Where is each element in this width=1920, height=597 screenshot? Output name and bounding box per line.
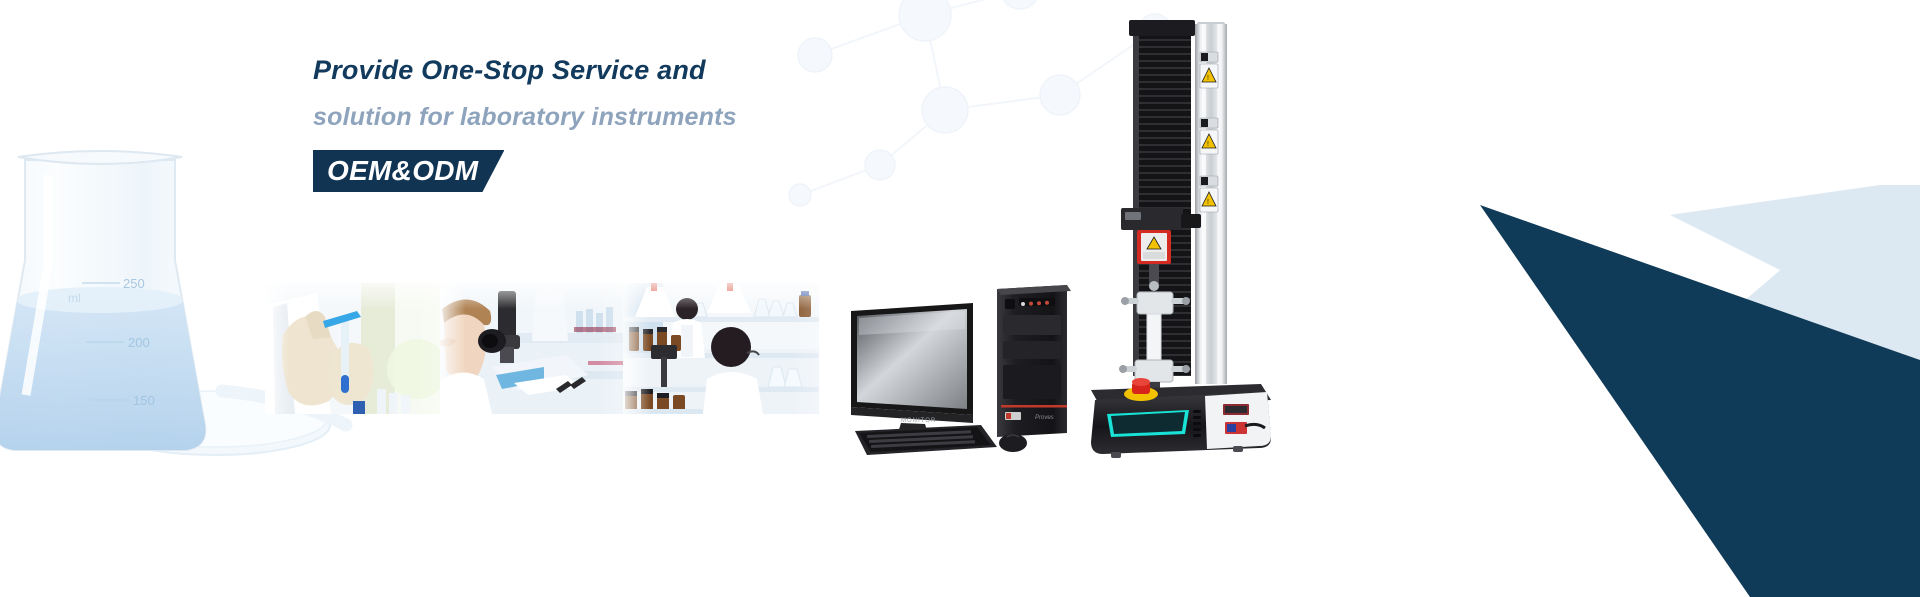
svg-text:!: ! (1207, 75, 1209, 82)
svg-text:150: 150 (133, 393, 155, 408)
svg-text:250: 250 (123, 276, 145, 291)
svg-text:ml: ml (68, 291, 81, 305)
svg-text:Proves: Proves (1035, 415, 1054, 421)
promo-banner: 250 200 150 ml Provide One-Stop Service … (0, 0, 1920, 597)
photo-pipetting (265, 283, 440, 414)
light-blue-wedge (1670, 185, 1920, 340)
dark-navy-triangle (1480, 205, 1920, 597)
photo-lab-researchers (623, 283, 819, 414)
oem-odm-badge-wrapper: OEM&ODM (313, 150, 504, 192)
headline-block: Provide One-Stop Service and solution fo… (313, 57, 1073, 130)
svg-text:MONITOR: MONITOR (901, 418, 936, 424)
headline-line-2: solution for laboratory instruments (313, 105, 1073, 130)
laboratory-photo-strip (265, 283, 825, 414)
svg-text:!: ! (1207, 141, 1209, 148)
oem-odm-badge: OEM&ODM (313, 150, 504, 192)
photo-microscope (440, 283, 623, 414)
universal-tensile-testing-machine: ! ! ! (1085, 18, 1305, 458)
svg-text:!: ! (1207, 199, 1209, 206)
svg-text:200: 200 (128, 335, 150, 350)
headline-line-1: Provide One-Stop Service and (313, 57, 1073, 84)
